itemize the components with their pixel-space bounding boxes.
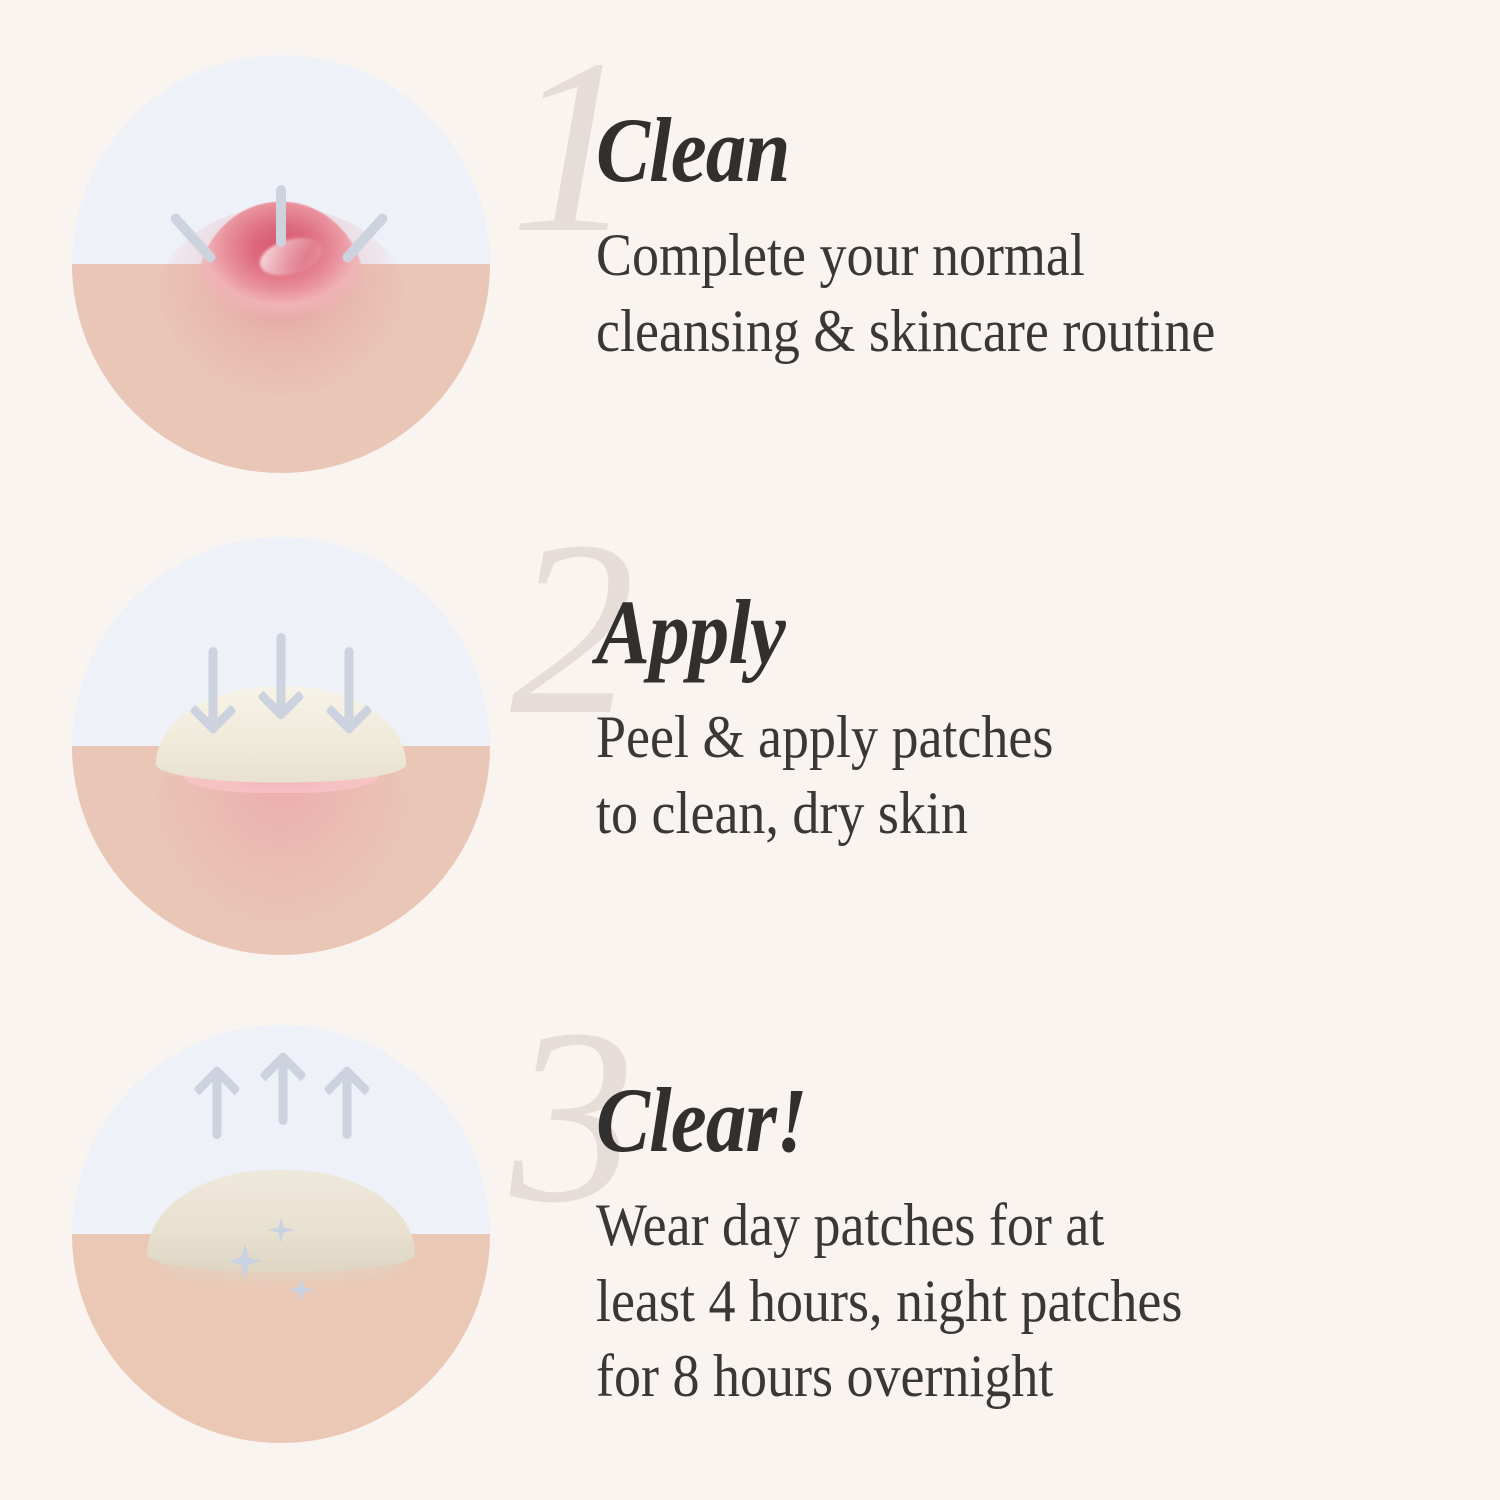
illustration-circle [72,55,490,473]
blemish-highlight [256,232,327,282]
step-1: 1 Clean Complete your normal cleansing &… [0,30,1500,520]
arrow-down-icon-center [264,633,298,709]
step-2-text: 2 Apply Peel & apply patches to clean, d… [490,512,1500,851]
step-heading: Clean [596,50,1392,196]
step-2: 2 Apply Peel & apply patches to clean, d… [0,512,1500,1002]
step-1-text: 1 Clean Complete your normal cleansing &… [490,30,1500,369]
illustration-circle [72,1025,490,1443]
step-3-illustration [72,1025,490,1443]
arrow-down-icon-left [196,647,230,723]
step-1-illustration [72,55,490,473]
step-body: Complete your normal cleansing & skincar… [596,218,1410,369]
step-heading: Clear! [596,1020,1392,1166]
ray-line-center [276,185,286,247]
step-body: Peel & apply patches to clean, dry skin [596,700,1410,851]
arrow-up-icon-right [330,1077,364,1139]
illustration-circle [72,537,490,955]
step-2-illustration [72,537,490,955]
step-body: Wear day patches for at least 4 hours, n… [596,1188,1410,1415]
arrow-up-icon-center [266,1063,300,1125]
instructions-page: 1 Clean Complete your normal cleansing &… [0,0,1500,1500]
step-3-text: 3 Clear! Wear day patches for at least 4… [490,1000,1500,1415]
arrow-down-icon-right [332,647,366,723]
step-3: 3 Clear! Wear day patches for at least 4… [0,1000,1500,1490]
step-heading: Apply [596,532,1392,678]
arrow-up-icon-left [200,1077,234,1139]
